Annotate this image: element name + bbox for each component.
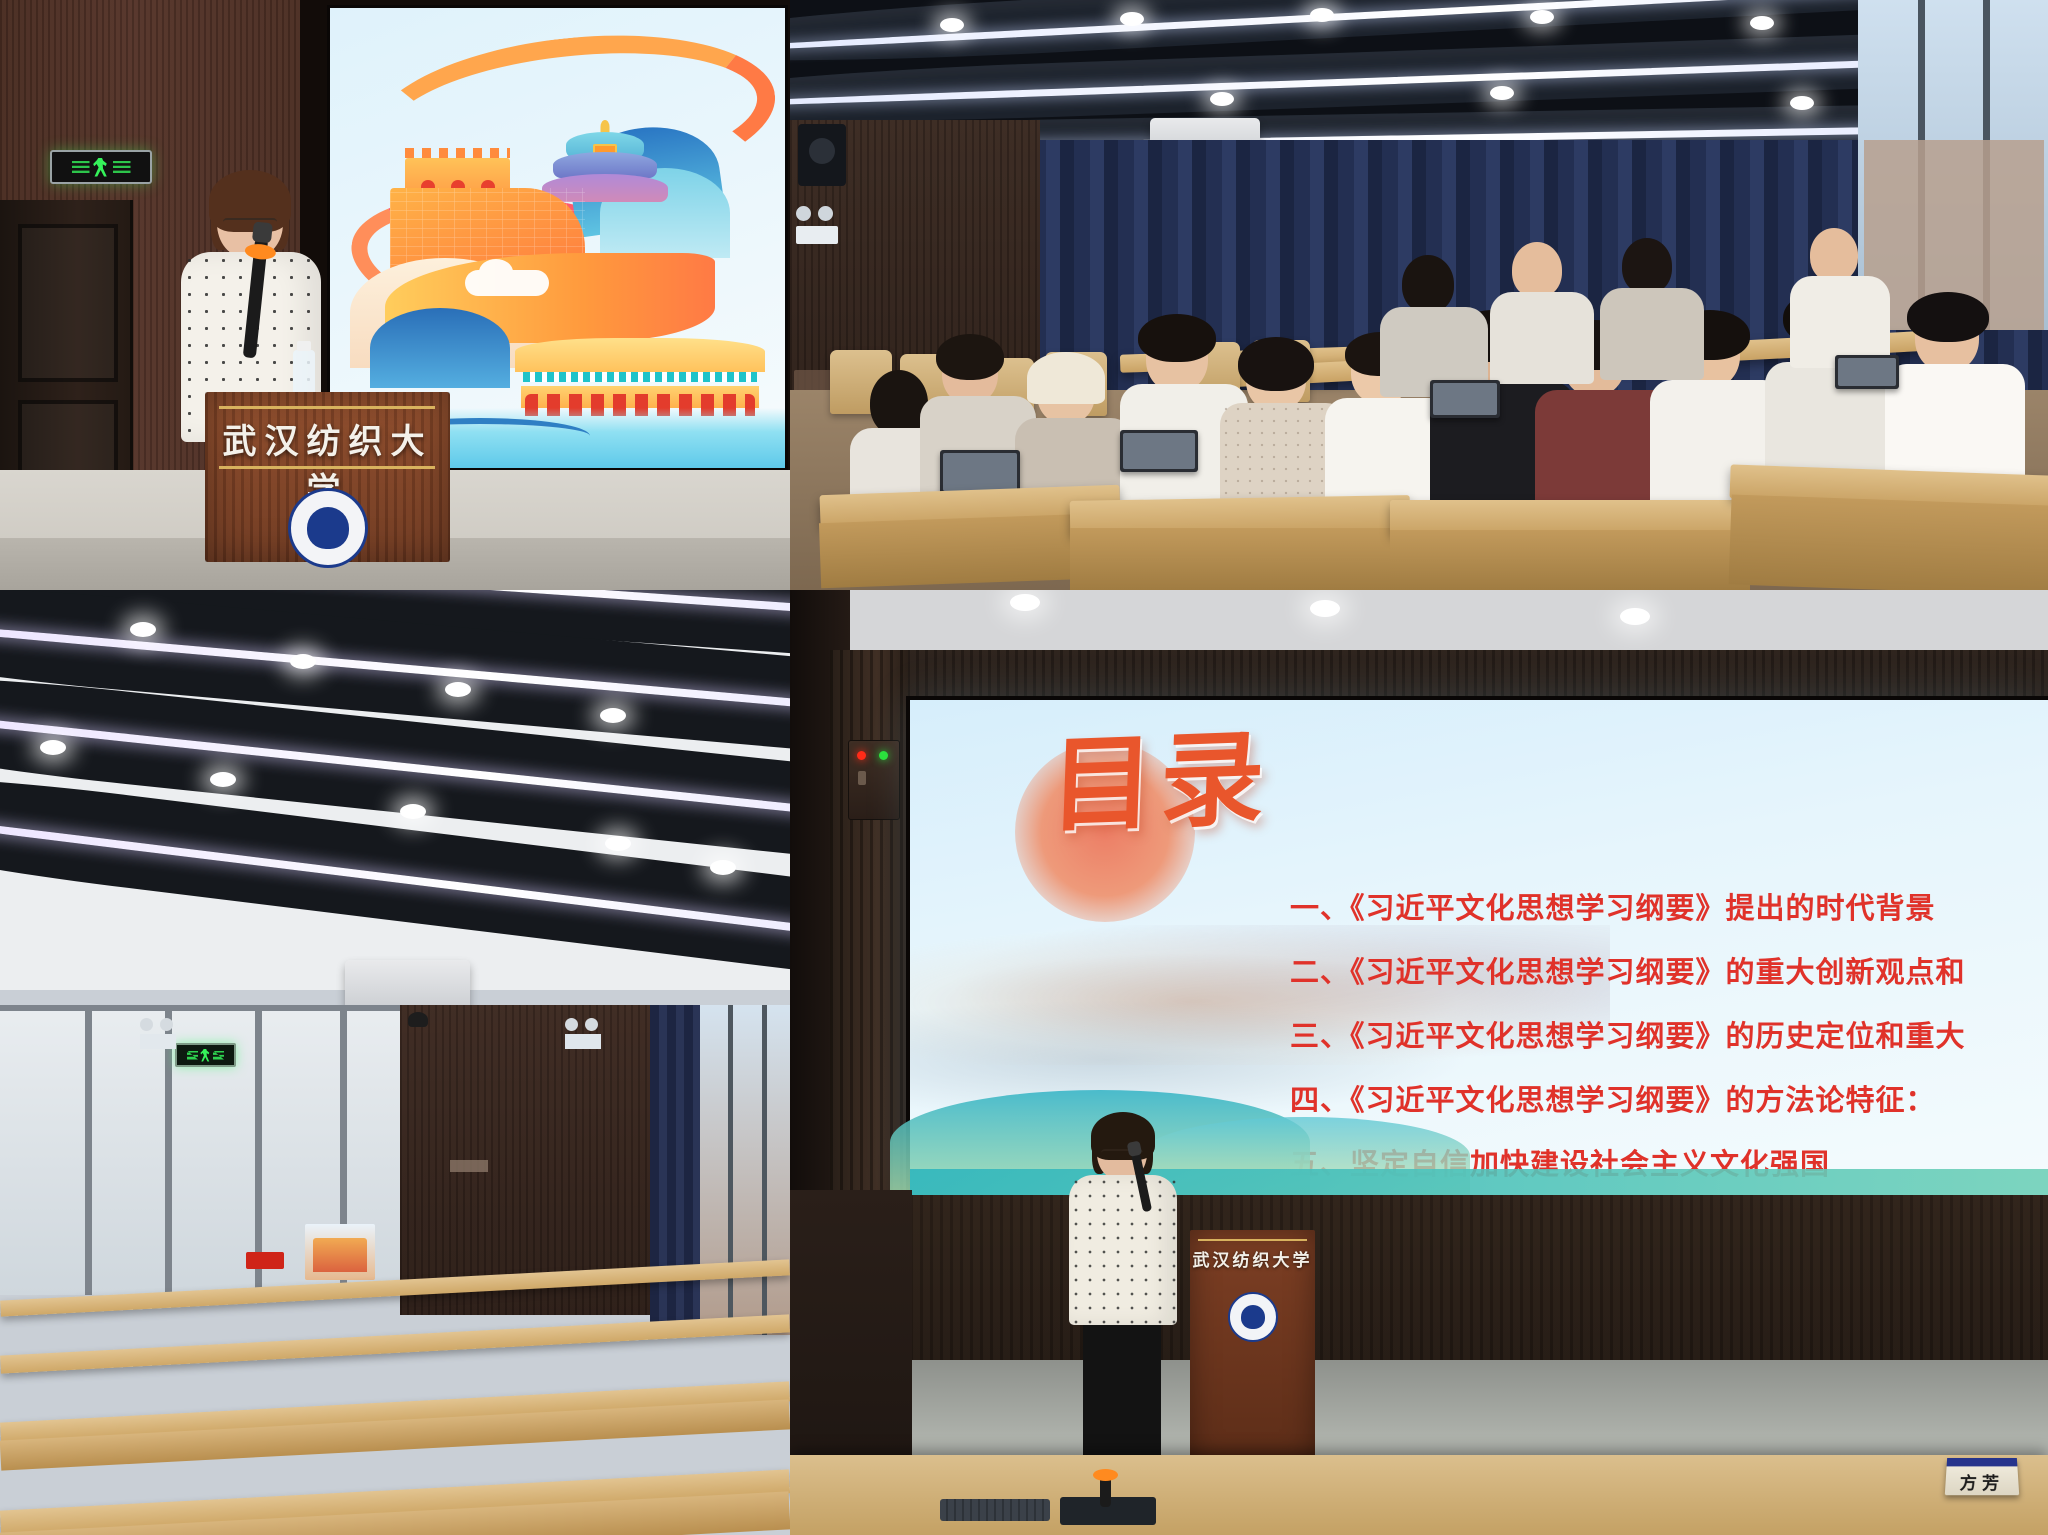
blue-hill-lower bbox=[370, 308, 510, 388]
emergency-light-plate bbox=[796, 226, 838, 244]
student-back-4 bbox=[1790, 228, 1890, 358]
podium-1: 武汉纺织大学 bbox=[205, 392, 450, 562]
front-downlight-4 bbox=[600, 708, 626, 723]
student-back-3 bbox=[1600, 238, 1705, 368]
exit-sign-text-glyph bbox=[72, 161, 90, 173]
laptop-3 bbox=[1430, 380, 1500, 418]
ceiling-light-2 bbox=[1310, 600, 1340, 617]
laptop-1 bbox=[940, 450, 1020, 494]
speaker-person-2 bbox=[1065, 1120, 1180, 1470]
student-back-1 bbox=[1380, 255, 1490, 385]
student-hair bbox=[1138, 314, 1216, 362]
university-logo-2 bbox=[1228, 1292, 1278, 1342]
em-bulb-b bbox=[160, 1018, 173, 1031]
red-sign bbox=[246, 1252, 284, 1269]
em-bulb-a bbox=[140, 1018, 153, 1031]
polka-dot-pattern-2 bbox=[1069, 1175, 1177, 1325]
led-red bbox=[857, 751, 866, 760]
door-wall-sign bbox=[450, 1160, 488, 1172]
student-body bbox=[1600, 288, 1704, 380]
front-downlight-9 bbox=[710, 860, 736, 875]
front-desk: 方芳 bbox=[790, 1455, 2048, 1535]
desk-row-1 bbox=[1390, 500, 1750, 534]
outline-item-2: 二、《习近平文化思想学习纲要》的重大创新观点和 bbox=[1290, 959, 2048, 988]
downlight-1 bbox=[940, 18, 964, 32]
front-downlight-3 bbox=[445, 682, 471, 697]
speaker2-blouse bbox=[1069, 1175, 1177, 1325]
front-downlight-5 bbox=[40, 740, 66, 755]
downlight-3 bbox=[1310, 8, 1334, 22]
emergency-bulb-right bbox=[818, 206, 833, 221]
emergency-bulb-left bbox=[796, 206, 811, 221]
exit-sign-2-text-right bbox=[213, 1051, 224, 1060]
downlight-8 bbox=[1490, 86, 1514, 100]
downlight-9 bbox=[1790, 96, 1814, 110]
far-window-mullion-1 bbox=[728, 1005, 733, 1335]
downlight-5 bbox=[1750, 16, 1774, 30]
far-window-mullion-2 bbox=[762, 1005, 767, 1335]
ceiling-light-1 bbox=[1010, 594, 1040, 611]
desk-mic-foam bbox=[1093, 1469, 1118, 1481]
poster-banner bbox=[305, 1224, 375, 1280]
cloud-icon bbox=[465, 270, 549, 296]
university-logo bbox=[288, 488, 368, 568]
student-hair bbox=[1907, 292, 1989, 342]
student-hair bbox=[1238, 337, 1314, 391]
front-downlight-8 bbox=[605, 836, 631, 851]
slide-title-mulu: 目录 bbox=[1048, 728, 1272, 840]
bottle-cap bbox=[297, 341, 311, 351]
control-switch[interactable] bbox=[858, 771, 866, 785]
exit-sign-2-text-left bbox=[187, 1051, 198, 1060]
speaker2-trousers bbox=[1083, 1320, 1161, 1470]
outline-item-3: 三、《习近平文化思想学习纲要》的历史定位和重大 bbox=[1290, 1023, 2048, 1052]
outline-item-1: 一、《习近平文化思想学习纲要》提出的时代背景 bbox=[1290, 895, 2048, 924]
panel-speaker-podium: 武汉纺织大学 bbox=[0, 0, 790, 590]
downlight-2 bbox=[1120, 12, 1144, 26]
exit-sign-icon bbox=[50, 150, 152, 184]
downlight-4 bbox=[1530, 10, 1554, 24]
ceiling-front bbox=[0, 590, 790, 990]
em2-bulb-b bbox=[585, 1018, 598, 1031]
front-downlight-2 bbox=[290, 654, 316, 669]
name-card: 方芳 bbox=[1945, 1458, 2019, 1495]
window-far-right bbox=[700, 1005, 790, 1335]
podium-gold-line-bottom bbox=[219, 466, 435, 469]
emergency-light bbox=[796, 206, 842, 246]
hall-roof bbox=[515, 338, 765, 372]
student-back-2 bbox=[1490, 242, 1595, 372]
podium-gold-line-top bbox=[219, 406, 435, 409]
em-plate bbox=[140, 1034, 176, 1049]
exit-sign-2-icon bbox=[175, 1043, 236, 1067]
student-body bbox=[1490, 292, 1594, 384]
bench-row-5 bbox=[0, 1314, 790, 1373]
front-downlight-7 bbox=[400, 804, 426, 819]
student-head bbox=[1512, 242, 1562, 298]
student-hair bbox=[936, 334, 1004, 380]
camera-icon bbox=[408, 1012, 428, 1027]
podium2-gold-line bbox=[1198, 1239, 1307, 1241]
keyboard[interactable] bbox=[940, 1499, 1050, 1521]
podium2-university-name: 武汉纺织大学 bbox=[1190, 1246, 1315, 1271]
name-card-text: 方芳 bbox=[1945, 1469, 2019, 1494]
name-card-bar bbox=[1947, 1458, 2018, 1466]
front-downlight-1 bbox=[130, 622, 156, 637]
logo-mark bbox=[307, 507, 349, 549]
desk-microphone-icon bbox=[1100, 1473, 1111, 1507]
control-panel[interactable] bbox=[848, 740, 900, 820]
student-head bbox=[1810, 228, 1858, 282]
front-downlight-6 bbox=[210, 772, 236, 787]
running-man-icon-2 bbox=[200, 1049, 211, 1062]
emergency-light-2 bbox=[140, 1018, 178, 1048]
mic-capsule bbox=[252, 221, 273, 243]
wall-speaker-icon bbox=[798, 124, 846, 186]
em2-plate bbox=[565, 1034, 601, 1049]
led-green bbox=[879, 751, 888, 760]
hall-eave-band bbox=[523, 372, 757, 382]
podium-2: 武汉纺织大学 bbox=[1190, 1230, 1315, 1465]
student-head bbox=[1402, 255, 1454, 313]
glass-frame-1 bbox=[85, 1005, 92, 1295]
student-head bbox=[1622, 238, 1672, 294]
logo-mark-2 bbox=[1241, 1305, 1265, 1329]
emergency-light-3 bbox=[565, 1018, 603, 1048]
laptop-4 bbox=[1835, 355, 1899, 389]
student-cap bbox=[1027, 352, 1105, 404]
exit-sign-text-glyph-2 bbox=[113, 161, 131, 173]
desk-front-2 bbox=[1070, 528, 1410, 590]
downlight-7 bbox=[1210, 92, 1234, 106]
ceiling-light-3 bbox=[1620, 608, 1650, 625]
laptop-2 bbox=[1120, 430, 1198, 472]
panel-audience-side bbox=[790, 0, 2048, 590]
em2-bulb-a bbox=[565, 1018, 578, 1031]
desk-front-1 bbox=[1390, 530, 1750, 590]
desk-front-0 bbox=[1729, 494, 2048, 590]
photo-collage: 武汉纺织大学 bbox=[0, 0, 2048, 1535]
running-man-icon bbox=[93, 158, 110, 177]
panel-directory-slide: 目录 一、《习近平文化思想学习纲要》提出的时代背景 二、《习近平文化思想学习纲要… bbox=[790, 590, 2048, 1535]
panel-audience-front bbox=[0, 590, 790, 1535]
